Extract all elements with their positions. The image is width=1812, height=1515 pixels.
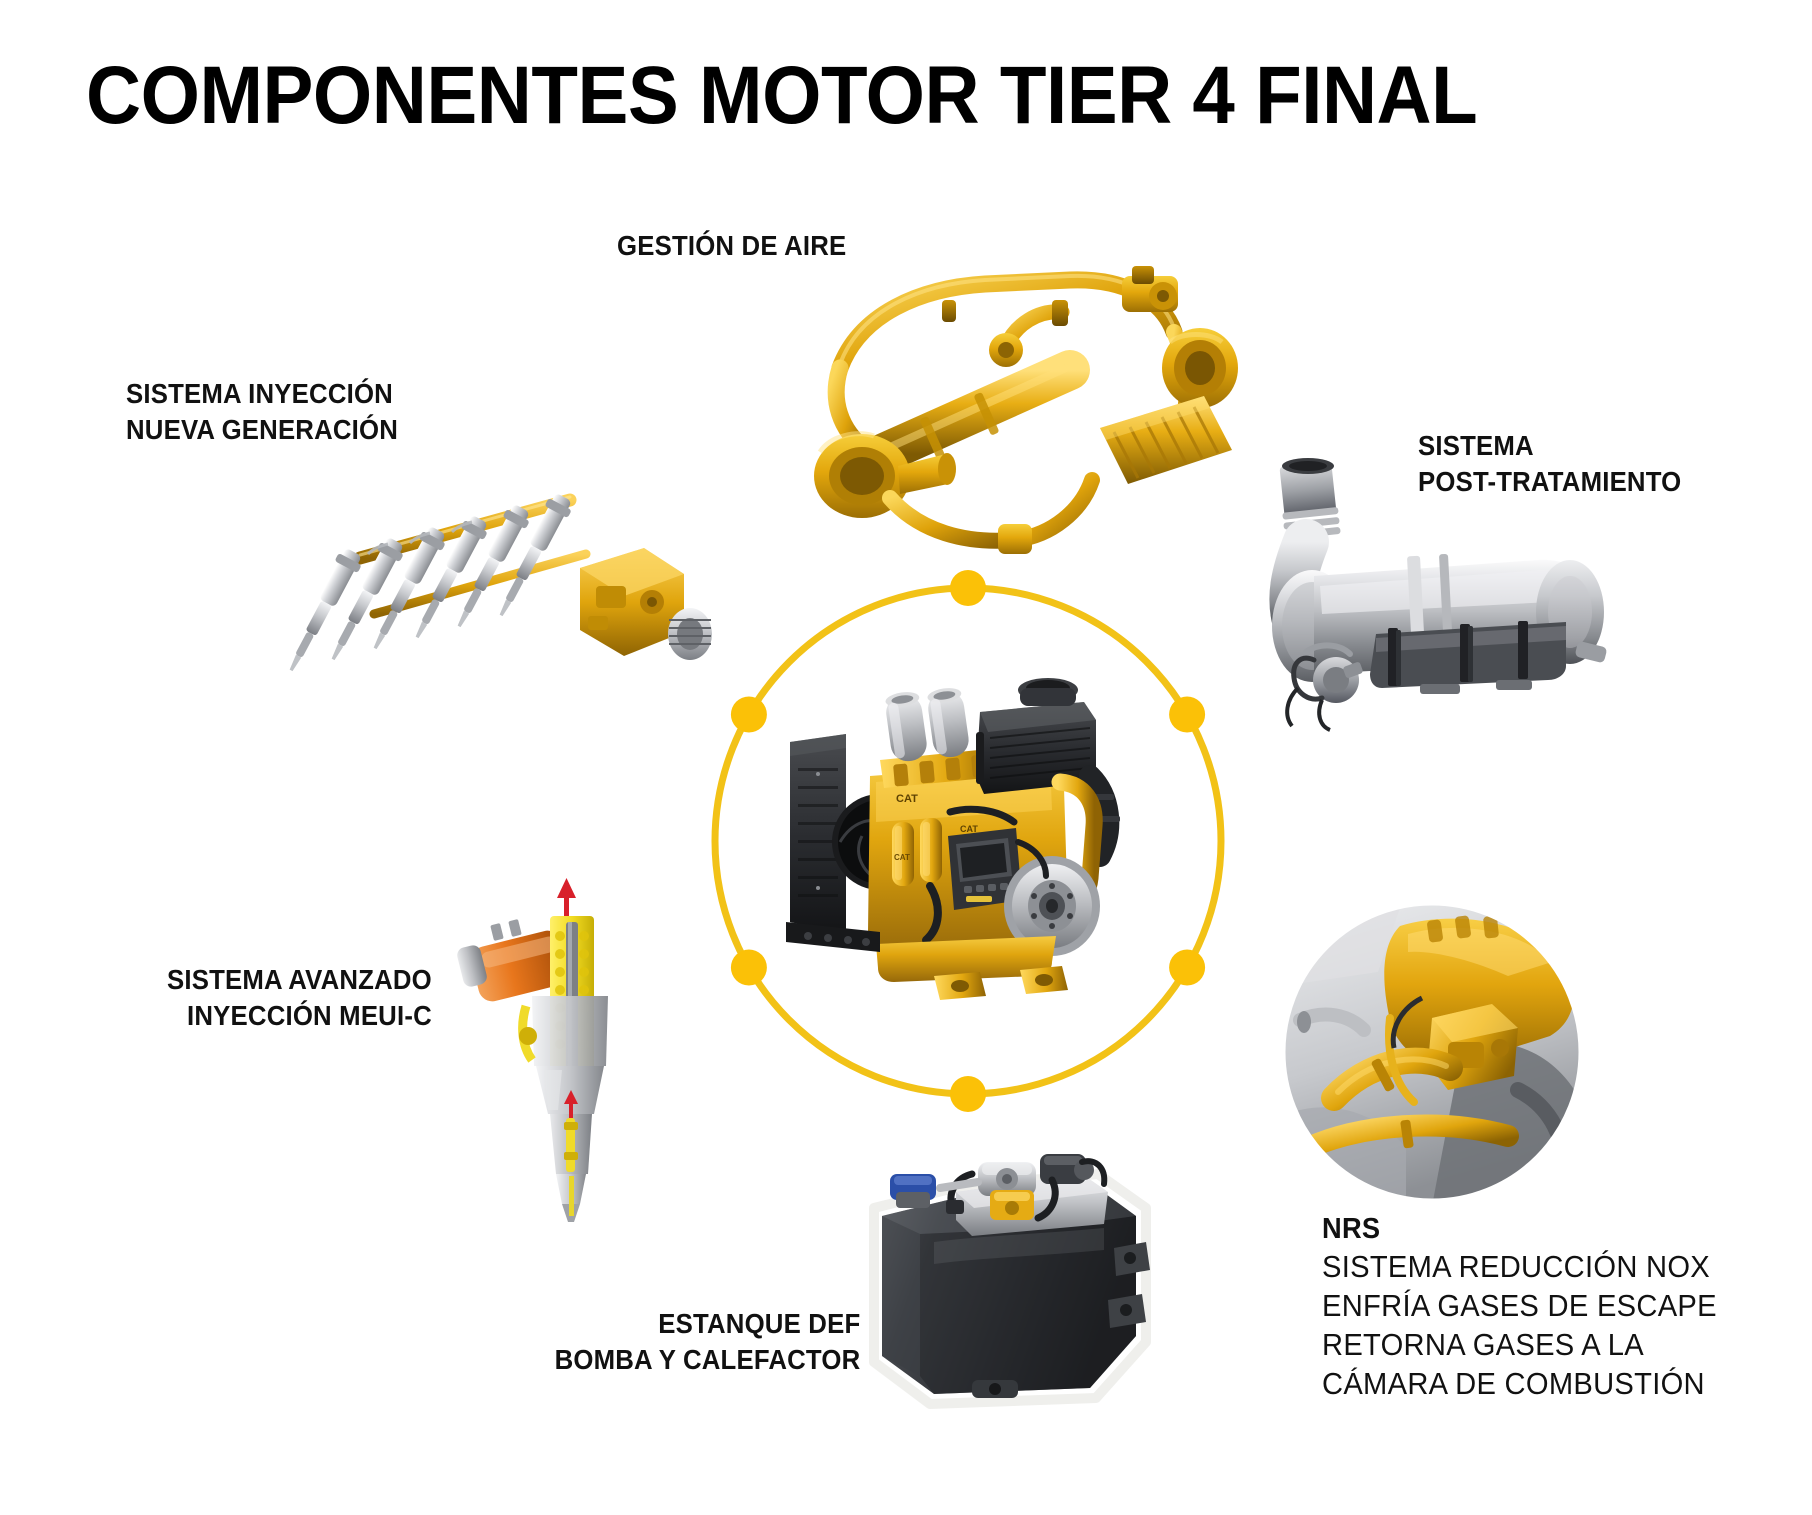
ring-node-bottom[interactable]: [950, 1076, 986, 1112]
nrs-line: SISTEMA REDUCCIÓN NOX: [1322, 1247, 1717, 1286]
label-estanque-def-bomba-y-calefactor: ESTANQUE DEF BOMBA Y CALEFACTOR: [554, 1306, 860, 1378]
label-nrs-block: NRS SISTEMA REDUCCIÓN NOX ENFRÍA GASES D…: [1322, 1212, 1717, 1403]
label-line: BOMBA Y CALEFACTOR: [554, 1342, 860, 1378]
meui-c-injector-cutaway-image: [466, 870, 686, 1230]
label-line: ESTANQUE DEF: [554, 1306, 860, 1342]
label-line: SISTEMA INYECCIÓN: [126, 376, 398, 412]
nrs-line: RETORNA GASES A LA: [1322, 1325, 1717, 1364]
svg-text:CAT: CAT: [960, 824, 978, 834]
ring-node-top[interactable]: [950, 570, 986, 606]
next-generation-injection-system-image: [338, 482, 748, 752]
infographic-root: COMPONENTES MOTOR TIER 4 FINAL GESTIÓN D…: [0, 0, 1812, 1510]
center-engine-image: CAT: [784, 690, 1154, 1000]
page-title: COMPONENTES MOTOR TIER 4 FINAL: [86, 54, 1477, 138]
label-sistema-avanzado-inyeccion-meui-c: SISTEMA AVANZADO INYECCIÓN MEUI-C: [167, 962, 432, 1034]
nox-reduction-system-image: [1282, 902, 1582, 1202]
def-tank-pump-heater-image: [860, 1130, 1170, 1430]
nrs-line: ENFRÍA GASES DE ESCAPE: [1322, 1286, 1717, 1325]
label-line: NUEVA GENERACIÓN: [126, 412, 398, 448]
label-line: INYECCIÓN MEUI-C: [167, 998, 432, 1034]
ring-node-lower-left[interactable]: [1169, 950, 1205, 986]
label-line: SISTEMA AVANZADO: [167, 962, 432, 998]
svg-text:CAT: CAT: [896, 793, 918, 805]
nrs-line: CÁMARA DE COMBUSTIÓN: [1322, 1364, 1717, 1403]
svg-text:CAT: CAT: [894, 853, 910, 862]
label-sistema-inyeccion-nueva-generacion: SISTEMA INYECCIÓN NUEVA GENERACIÓN: [126, 376, 398, 448]
aftertreatment-system-image: [1270, 448, 1630, 748]
nrs-heading: NRS: [1322, 1212, 1717, 1247]
ring-node-lower-right[interactable]: [731, 950, 767, 986]
air-management-assembly-image: [770, 240, 1290, 570]
ring-node-upper-left[interactable]: [1169, 697, 1205, 733]
